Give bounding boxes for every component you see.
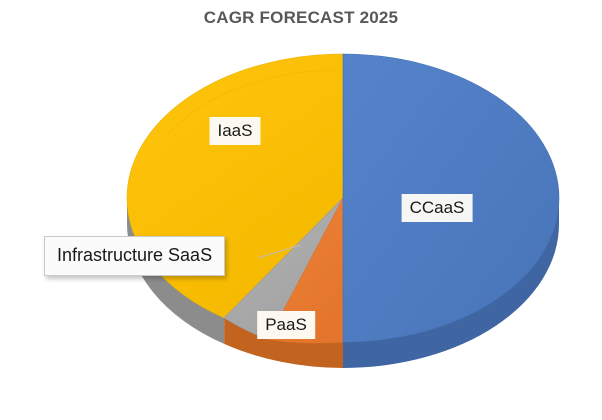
pie-label-infrastructure-saas[interactable]: Infrastructure SaaS xyxy=(44,236,225,276)
pie-chart-graphic xyxy=(0,0,602,420)
pie-label-ccaas[interactable]: CCaaS xyxy=(402,194,473,222)
pie-label-paas[interactable]: PaaS xyxy=(257,311,315,339)
pie-chart-figure: CAGR FORECAST 2025 xyxy=(0,0,602,420)
pie-label-iaas[interactable]: IaaS xyxy=(210,117,261,145)
